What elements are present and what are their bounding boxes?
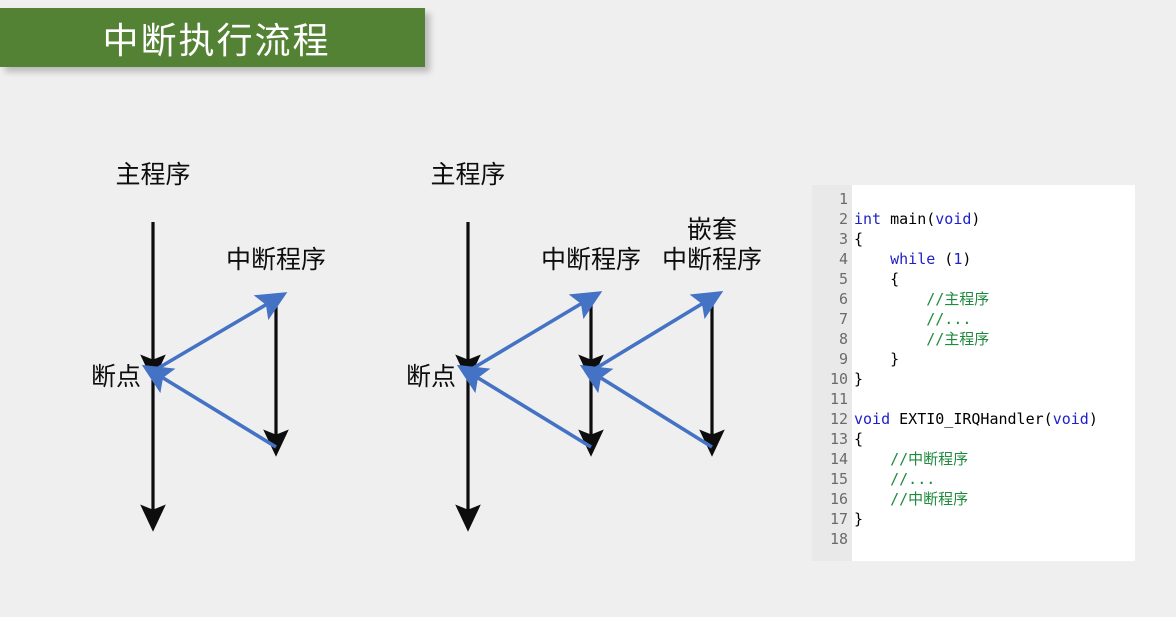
code-token-pun xyxy=(854,310,926,328)
diagram-left-group: 主程序 中断程序 断点 xyxy=(91,160,326,518)
code-token-com: //... xyxy=(890,470,935,488)
code-token-pun xyxy=(854,450,890,468)
code-line-number: 9 xyxy=(812,349,852,369)
code-line-number: 6 xyxy=(812,289,852,309)
right-label-nested-line1: 嵌套 xyxy=(687,215,737,244)
code-line xyxy=(854,389,1135,409)
code-line xyxy=(854,529,1135,549)
code-line: //主程序 xyxy=(854,329,1135,349)
code-line-number: 2 xyxy=(812,209,852,229)
code-line: void EXTI0_IRQHandler(void) xyxy=(854,409,1135,429)
code-token-com: //主程序 xyxy=(926,290,989,308)
interrupt-flow-diagrams: 主程序 中断程序 断点 xyxy=(0,0,800,617)
code-line-number: 16 xyxy=(812,489,852,509)
right-label-interrupt-program: 中断程序 xyxy=(541,245,641,274)
right-enter-isr1-arrow xyxy=(470,299,589,370)
code-token-kw: void xyxy=(854,410,890,428)
slide-canvas: 中断执行流程 xyxy=(0,0,1176,617)
code-line-number: 11 xyxy=(812,389,852,409)
code-line-number: 4 xyxy=(812,249,852,269)
code-line: { xyxy=(854,269,1135,289)
code-line: { xyxy=(854,229,1135,249)
code-line-number: 7 xyxy=(812,309,852,329)
code-line: { xyxy=(854,429,1135,449)
code-token-id: main xyxy=(881,210,926,228)
code-line-number: 8 xyxy=(812,329,852,349)
code-token-com: //中断程序 xyxy=(890,490,968,508)
code-line: //中断程序 xyxy=(854,489,1135,509)
left-label-breakpoint: 断点 xyxy=(91,362,141,391)
left-enter-isr-arrow xyxy=(155,300,274,370)
code-line: //... xyxy=(854,469,1135,489)
code-token-pun: { xyxy=(854,230,863,248)
code-token-pun xyxy=(854,490,890,508)
code-line-number-gutter: 123456789101112131415161718 xyxy=(812,185,852,561)
code-line-number: 12 xyxy=(812,409,852,429)
code-token-pun xyxy=(854,330,926,348)
code-line-number: 5 xyxy=(812,269,852,289)
code-token-kw: while xyxy=(890,250,935,268)
code-line: } xyxy=(854,349,1135,369)
code-token-com: //中断程序 xyxy=(890,450,968,468)
code-token-pun: ( xyxy=(935,250,953,268)
code-line-number: 1 xyxy=(812,189,852,209)
diagram-area: 主程序 中断程序 断点 xyxy=(0,0,800,617)
code-line-number: 3 xyxy=(812,229,852,249)
code-token-com: //... xyxy=(926,310,971,328)
code-panel[interactable]: 123456789101112131415161718 int main(voi… xyxy=(812,185,1135,561)
code-line-number: 17 xyxy=(812,509,852,529)
code-line: //中断程序 xyxy=(854,449,1135,469)
code-token-pun: } xyxy=(854,350,899,368)
left-label-main-program: 主程序 xyxy=(115,160,190,189)
code-line-number: 10 xyxy=(812,369,852,389)
right-label-main-program: 主程序 xyxy=(430,160,505,189)
code-line: } xyxy=(854,509,1135,529)
code-token-kw: void xyxy=(935,210,971,228)
code-token-pun xyxy=(854,250,890,268)
code-line: //主程序 xyxy=(854,289,1135,309)
code-line: int main(void) xyxy=(854,209,1135,229)
code-token-kw: int xyxy=(854,210,881,228)
code-token-id: EXTI0_IRQHandler xyxy=(890,410,1044,428)
code-line: while (1) xyxy=(854,249,1135,269)
code-token-pun: } xyxy=(854,510,863,528)
code-token-pun: ) xyxy=(962,250,971,268)
left-label-interrupt-program: 中断程序 xyxy=(226,245,326,274)
diagram-right-group: 主程序 中断程序 嵌套 中断程序 断点 xyxy=(406,160,762,518)
code-token-pun: { xyxy=(854,430,863,448)
code-token-com: //主程序 xyxy=(926,330,989,348)
code-token-pun: } xyxy=(854,370,863,388)
code-token-pun: { xyxy=(854,270,899,288)
code-token-pun: ( xyxy=(926,210,935,228)
code-line xyxy=(854,189,1135,209)
code-line-number: 18 xyxy=(812,529,852,549)
code-token-pun xyxy=(854,470,890,488)
code-line-number: 13 xyxy=(812,429,852,449)
right-return-isr2-arrow xyxy=(593,373,712,447)
right-label-nested-line2: 中断程序 xyxy=(662,245,762,274)
right-return-isr1-arrow xyxy=(470,373,591,447)
code-line-number: 14 xyxy=(812,449,852,469)
code-line-number: 15 xyxy=(812,469,852,489)
code-token-kw: void xyxy=(1053,410,1089,428)
right-label-breakpoint: 断点 xyxy=(406,362,456,391)
code-line: //... xyxy=(854,309,1135,329)
code-token-pun: ) xyxy=(1089,410,1098,428)
code-token-pun: ) xyxy=(971,210,980,228)
code-text-area[interactable]: int main(void){ while (1) { //主程序 //... … xyxy=(852,185,1135,561)
code-token-pun xyxy=(854,290,926,308)
code-token-pun: ( xyxy=(1044,410,1053,428)
code-line: } xyxy=(854,369,1135,389)
right-enter-isr2-arrow xyxy=(593,299,710,370)
left-return-arrow xyxy=(155,373,276,447)
